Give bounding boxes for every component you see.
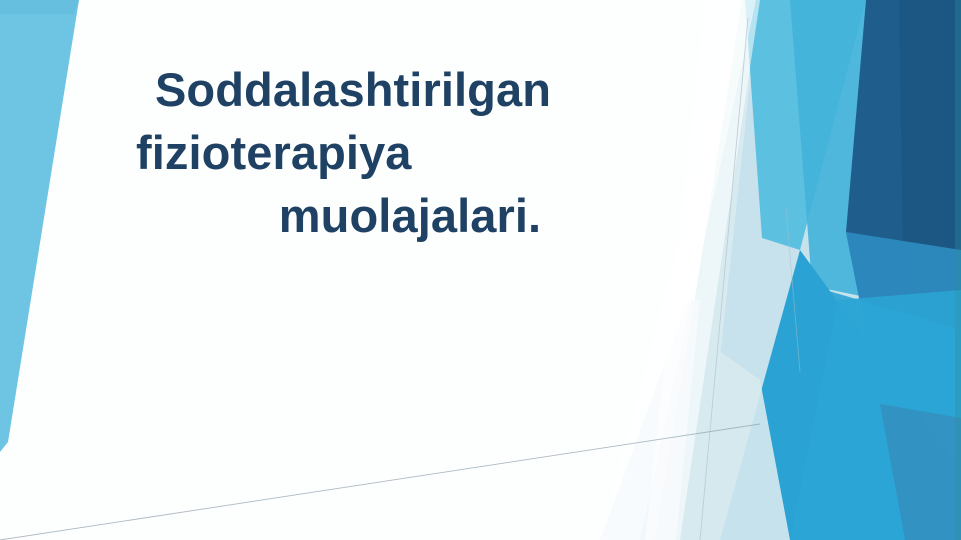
slide-title: Soddalashtirilgan fizioterapiya muolajal… <box>0 58 650 247</box>
left-wedge-top-shade <box>0 0 79 14</box>
title-line-3: muolajalari. <box>0 184 650 247</box>
title-line-2: fizioterapiya <box>0 121 650 184</box>
title-line-1: Soddalashtirilgan <box>0 58 650 121</box>
slide-canvas: Soddalashtirilgan fizioterapiya muolajal… <box>0 0 961 540</box>
right-teal-edge <box>955 0 961 540</box>
